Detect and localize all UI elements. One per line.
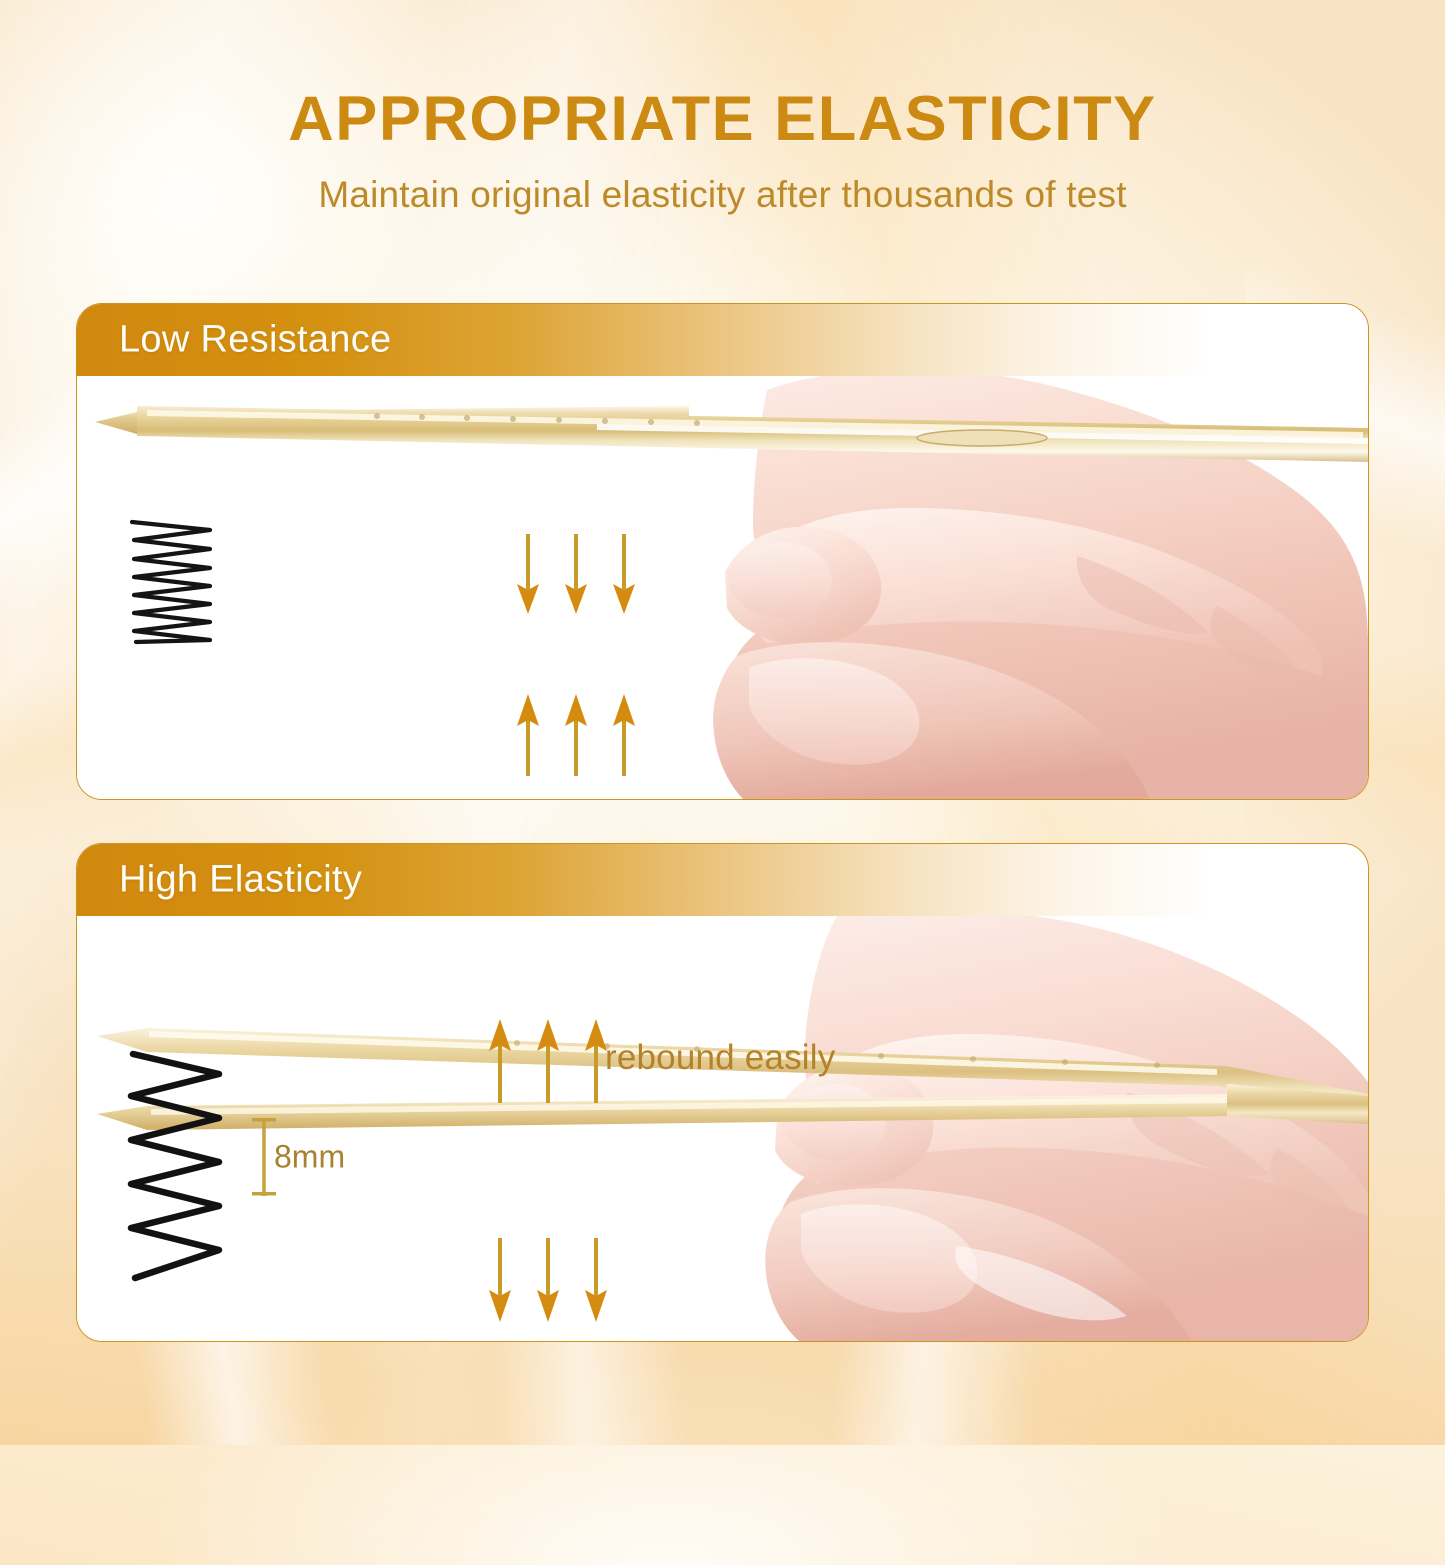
arrow-up-icon — [565, 694, 587, 776]
photo-hand-closed-tweezers — [77, 376, 1368, 799]
panel-label-high-elasticity: High Elasticity — [119, 859, 362, 902]
up-arrows-bottom-low — [517, 694, 635, 776]
page-title: APPROPRIATE ELASTICITY — [0, 86, 1445, 152]
up-arrows-top-high — [489, 1019, 607, 1103]
arrow-up-icon — [585, 1019, 607, 1103]
down-arrows-top-low — [517, 534, 635, 614]
arrow-up-icon — [537, 1019, 559, 1103]
down-arrows-bottom-high — [489, 1238, 607, 1322]
spring-svg-low — [122, 516, 222, 646]
tweezer-hinge-slot — [917, 430, 1047, 446]
panel-header-high-elasticity: High Elasticity — [77, 844, 1368, 916]
photo-svg-low — [77, 376, 1368, 799]
arrow-up-icon — [489, 1019, 511, 1103]
arrow-down-icon — [517, 534, 539, 614]
panel-body-high-elasticity: 8mm rebound easily — [77, 916, 1368, 1341]
arrow-down-icon — [613, 534, 635, 614]
compressed-spring-icon — [122, 516, 222, 646]
panel-label-low-resistance: Low Resistance — [119, 319, 391, 362]
arrow-down-icon — [489, 1238, 511, 1322]
panel-body-low-resistance — [77, 376, 1368, 799]
page-subtitle: Maintain original elasticity after thous… — [0, 174, 1445, 216]
spring-svg-high — [115, 1046, 235, 1286]
arrow-down-icon — [585, 1238, 607, 1322]
arrow-up-icon — [517, 694, 539, 776]
arrow-down-icon — [537, 1238, 559, 1322]
gap-measurement: 8mm — [252, 1116, 372, 1198]
gap-measurement-label: 8mm — [274, 1139, 345, 1176]
extended-spring-icon — [115, 1046, 235, 1286]
header-block: APPROPRIATE ELASTICITY Maintain original… — [0, 86, 1445, 216]
panel-low-resistance: Low Resistance — [76, 303, 1369, 800]
panel-header-low-resistance: Low Resistance — [77, 304, 1368, 376]
rebound-label: rebound easily — [605, 1038, 835, 1078]
tweezers-closed — [95, 406, 1368, 462]
arrow-up-icon — [613, 694, 635, 776]
panel-high-elasticity: High Elasticity — [76, 843, 1369, 1342]
arrow-down-icon — [565, 534, 587, 614]
